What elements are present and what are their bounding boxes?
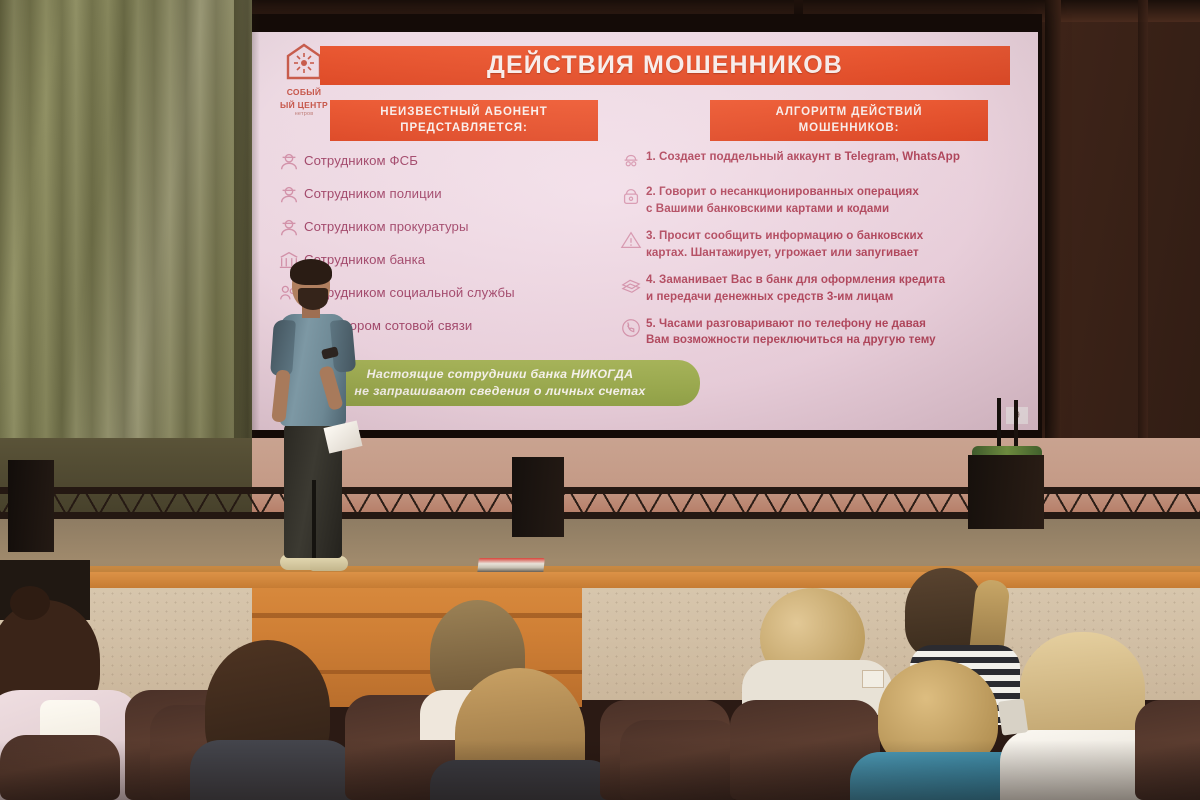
list-item-label: Сотрудником ФСБ [304, 148, 418, 169]
list-item-label: Сотрудником прокуратуры [304, 214, 469, 235]
left-column-header: НЕИЗВЕСТНЫЙ АБОНЕНТ ПРЕДСТАВЛЯЕТСЯ: [330, 100, 598, 141]
money-transfer-icon [616, 271, 646, 297]
right-header-line-1: АЛГОРИТМ ДЕЙСТВИЙ [776, 106, 923, 118]
loudspeaker-center [512, 457, 564, 537]
list-item: 3. Просит сообщить информацию о банковск… [616, 227, 1016, 262]
hacker-lock-icon [616, 183, 646, 209]
list-item: 1. Создает поддельный аккаунт в Telegram… [616, 148, 1016, 174]
list-item: 4. Заманивает Вас в банк для оформления … [616, 271, 1016, 306]
left-header-line-2: ПРЕДСТАВЛЯЕТСЯ: [400, 122, 527, 134]
list-item: Сотрудником прокуратуры [274, 214, 634, 240]
banner-line-1: Настоящие сотрудники банка НИКОГДА [367, 366, 634, 383]
list-item-label: Сотрудником полиции [304, 181, 442, 202]
algorithm-step-line: 5. Часами разговаривают по телефону не д… [646, 316, 936, 333]
slide-title-bar: ДЕЙСТВИЯ МОШЕННИКОВ [320, 46, 1010, 85]
seat [620, 720, 740, 800]
slide-title-text: ДЕЙСТВИЯ МОШЕННИКОВ [487, 51, 843, 80]
right-header-line-2: МОШЕННИКОВ: [799, 122, 900, 134]
list-item: 2. Говорит о несанкционированных операци… [616, 183, 1016, 218]
presenter-leg-separation [312, 480, 316, 558]
officer-prosecutor-icon [274, 214, 304, 240]
right-column-header: АЛГОРИТМ ДЕЙСТВИЙ МОШЕННИКОВ: [710, 100, 988, 141]
list-item: Сотрудником ФСБ [274, 148, 634, 174]
warning-triangle-icon [616, 227, 646, 253]
officer-fsb-icon [274, 148, 304, 174]
algorithm-step-line: 4. Заманивает Вас в банк для оформления … [646, 272, 945, 289]
presenter-beard [298, 288, 328, 310]
algorithm-step-line: Вам возможности переключиться на другую … [646, 332, 936, 349]
mic-stand-right [1014, 400, 1018, 450]
stage-wood-rail [0, 572, 1200, 588]
attendee-top [190, 740, 355, 800]
phone-handset-icon [616, 315, 646, 341]
algorithm-step-line: 3. Просит сообщить информацию о банковск… [646, 228, 923, 245]
wall-seam-far-right [1138, 0, 1148, 470]
loudspeaker-right [968, 455, 1044, 529]
loudspeaker-left [8, 460, 54, 552]
presenter [262, 262, 382, 582]
seat [1135, 700, 1200, 800]
presenter-sleeve-left [270, 319, 296, 376]
fraud-algorithm-list: 1. Создает поддельный аккаунт в Telegram… [616, 148, 1016, 358]
algorithm-step-line: с Вашими банковскими картами и кодами [646, 201, 919, 218]
officer-police-icon [274, 181, 304, 207]
list-item: 5. Часами разговаривают по телефону не д… [616, 315, 1016, 350]
list-item: Сотрудником полиции [274, 181, 634, 207]
banner-line-2: не запрашивают сведения о личных счетах [354, 383, 645, 400]
presentation-scene: СОБЫЙ ЫЙ ЦЕНТР нетров ДЕЙСТВИЯ МОШЕННИКО… [0, 0, 1200, 800]
logo-line-1: СОБЫЙ [256, 87, 352, 98]
attendee-phone [998, 698, 1028, 735]
algorithm-step-line: 2. Говорит о несанкционированных операци… [646, 184, 919, 201]
sunburst-house-icon [284, 42, 324, 80]
wood-panel-seam-1 [252, 613, 582, 618]
presenter-hair [290, 259, 332, 285]
presenter-shoe-right [310, 556, 348, 571]
attendee-badge [862, 670, 884, 688]
left-header-line-1: НЕИЗВЕСТНЫЙ АБОНЕНТ [380, 106, 547, 118]
attendee-bun [10, 586, 50, 620]
anonymous-hat-icon [616, 148, 646, 174]
mic-stand-left [997, 398, 1001, 450]
algorithm-step-line: картах. Шантажирует, угрожает или запуги… [646, 245, 923, 262]
algorithm-step-line: и передачи денежных средств 3-им лицам [646, 289, 945, 306]
wall-seam-right [1045, 0, 1061, 470]
algorithm-step-line: 1. Создает поддельный аккаунт в Telegram… [646, 149, 960, 166]
attendee-top [430, 760, 615, 800]
seat [0, 735, 120, 800]
